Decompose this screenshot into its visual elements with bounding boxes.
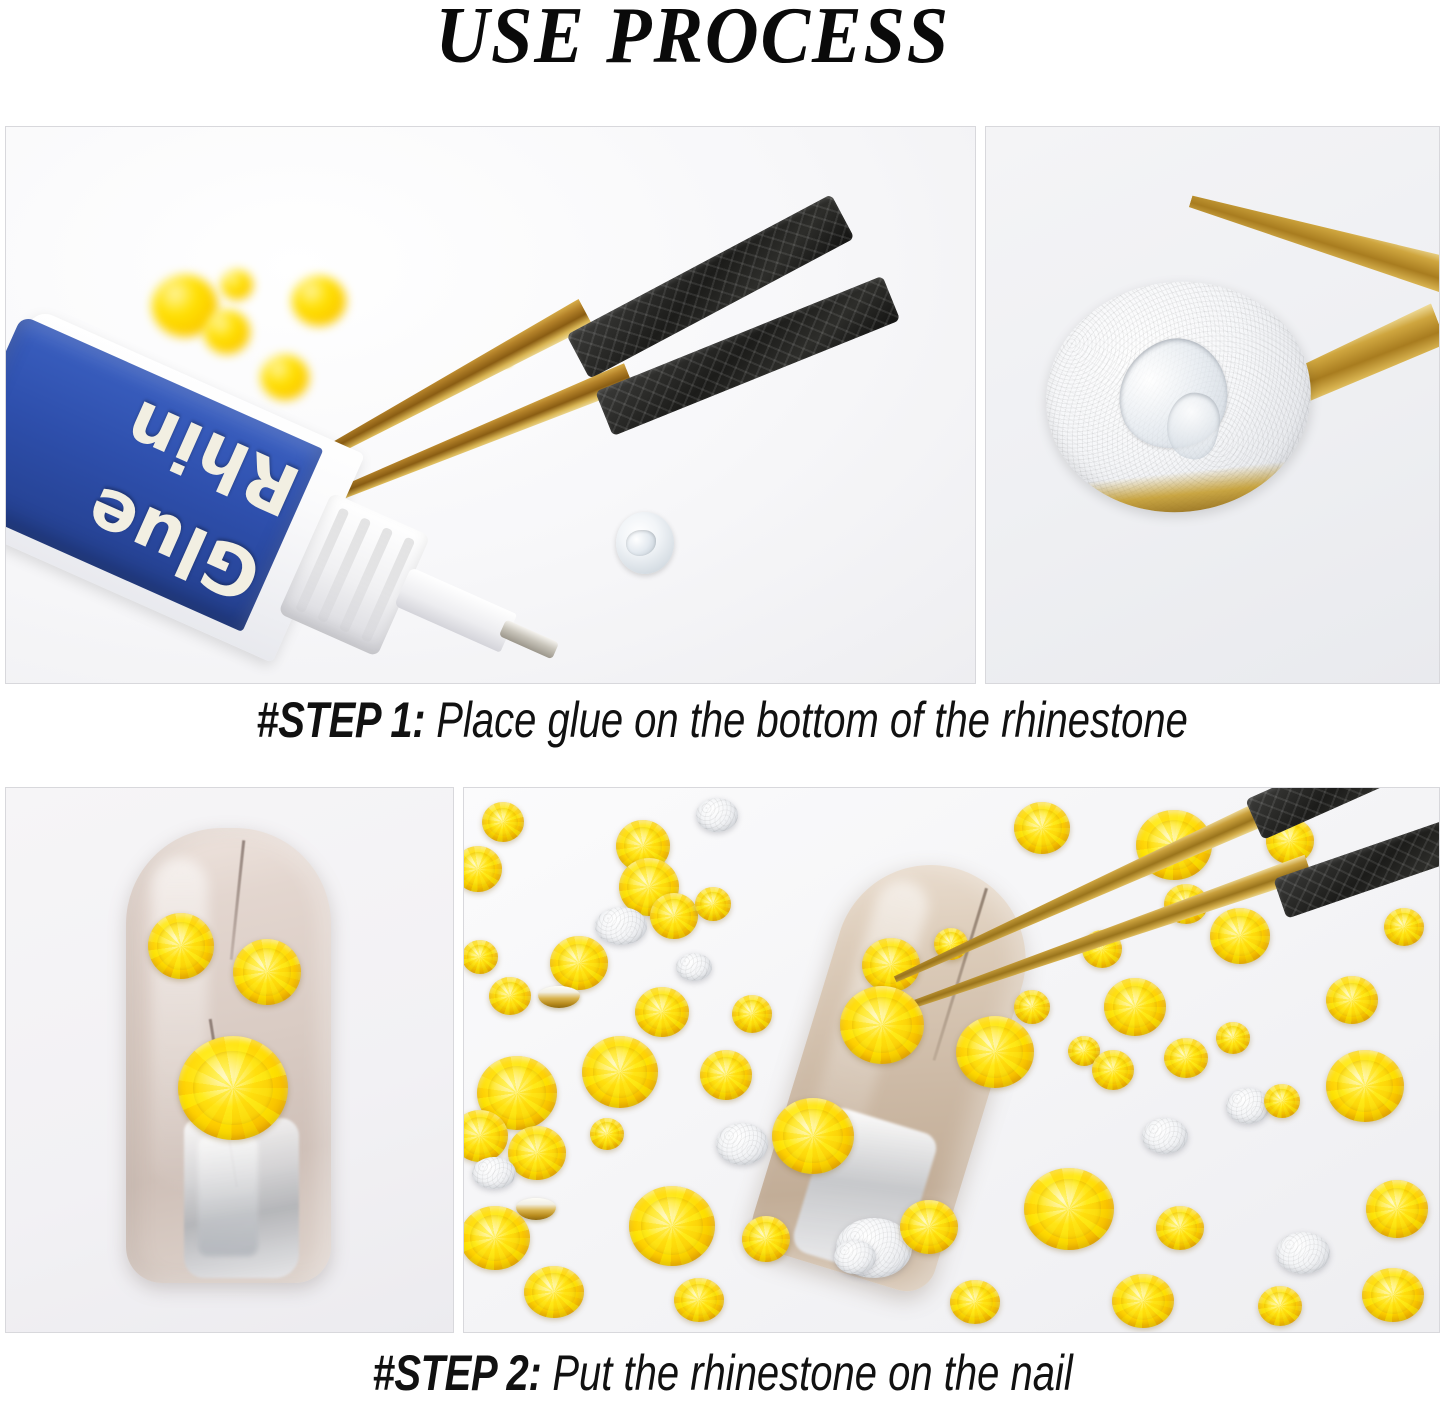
rhinestone [489, 977, 531, 1015]
rhinestone [1216, 1022, 1250, 1054]
page-title-container: USE PROCESS [0, 0, 1445, 118]
rhinestone [900, 1200, 958, 1254]
rhinestone [629, 1186, 715, 1266]
photo-rhinestone-back-closeup [985, 126, 1440, 684]
rhinestone [635, 987, 689, 1037]
rhinestone [1156, 1206, 1204, 1250]
rhinestone [1112, 1274, 1174, 1328]
rhinestone [463, 940, 498, 974]
photo-nail-with-stones [5, 787, 454, 1333]
step-2-text: Put the rhinestone on the nail [541, 1345, 1072, 1401]
rhinestone [1092, 1050, 1134, 1090]
rhinestone [700, 1050, 752, 1100]
rhinestone [950, 1280, 1000, 1324]
rhinestone [1264, 1084, 1300, 1118]
rhinestone [1024, 1168, 1114, 1250]
rhinestone [1384, 908, 1424, 946]
rhinestone [1362, 1268, 1424, 1322]
rhinestone [732, 995, 772, 1033]
rhinestone [1258, 1286, 1302, 1326]
rhinestone [674, 1278, 724, 1322]
rhinestone [1210, 908, 1270, 964]
rhinestone [650, 893, 698, 939]
rhinestone-foil-back [1226, 1088, 1270, 1124]
rhinestone [233, 939, 301, 1005]
step-1-caption: #STEP 1: Place glue on the bottom of the… [0, 692, 1445, 748]
rhinestone [582, 1036, 658, 1108]
rhinestone [482, 802, 524, 842]
rhinestone [1104, 978, 1166, 1036]
rhinestone [590, 1118, 624, 1150]
rhinestone [1014, 990, 1050, 1024]
rhinestone-held-by-tweezers [840, 986, 924, 1064]
rhinestone [956, 1016, 1034, 1088]
rhinestone [1164, 1038, 1208, 1078]
step-1-label: #STEP 1: [257, 692, 426, 748]
rhinestone [463, 1206, 530, 1270]
rhinestone [1366, 1180, 1428, 1238]
page-title: USE PROCESS [435, 0, 950, 78]
rhinestone-foil-back [716, 1123, 768, 1165]
rhinestone [1014, 802, 1070, 854]
rhinestone-foil-back [1035, 269, 1323, 525]
rhinestone-foil-back [834, 1240, 876, 1274]
rhinestone-foil-back [472, 1157, 516, 1189]
rhinestone [695, 887, 731, 921]
rhinestone-foil-back [676, 953, 712, 981]
nail-line [230, 840, 246, 960]
step-2-label: #STEP 2: [372, 1345, 541, 1401]
rhinestone [550, 936, 608, 990]
rhinestone-foil-back [595, 907, 647, 945]
rhinestone [862, 938, 920, 992]
step-1-text: Place glue on the bottom of the rhinesto… [425, 692, 1188, 748]
rhinestone-foil-back [696, 798, 738, 832]
rhinestone [148, 913, 214, 979]
photo-glue-bottle: Glue Rhin [5, 126, 976, 684]
rhinestone [178, 1036, 288, 1140]
photo-scattered-stones [463, 787, 1440, 1333]
rhinestone [772, 1098, 854, 1174]
rhinestone [742, 1216, 790, 1262]
rhinestone-foil-back [1276, 1232, 1330, 1274]
rhinestone-foil-back [1142, 1118, 1188, 1154]
rhinestone-with-glue [616, 512, 674, 574]
rhinestone [508, 1126, 566, 1180]
bottle-tip [394, 567, 517, 653]
step-2-caption: #STEP 2: Put the rhinestone on the nail [0, 1345, 1445, 1401]
rhinestone [1326, 976, 1378, 1024]
rhinestone [1326, 1050, 1404, 1122]
nail-silver-foil [184, 1118, 299, 1278]
rhinestone [524, 1266, 584, 1318]
